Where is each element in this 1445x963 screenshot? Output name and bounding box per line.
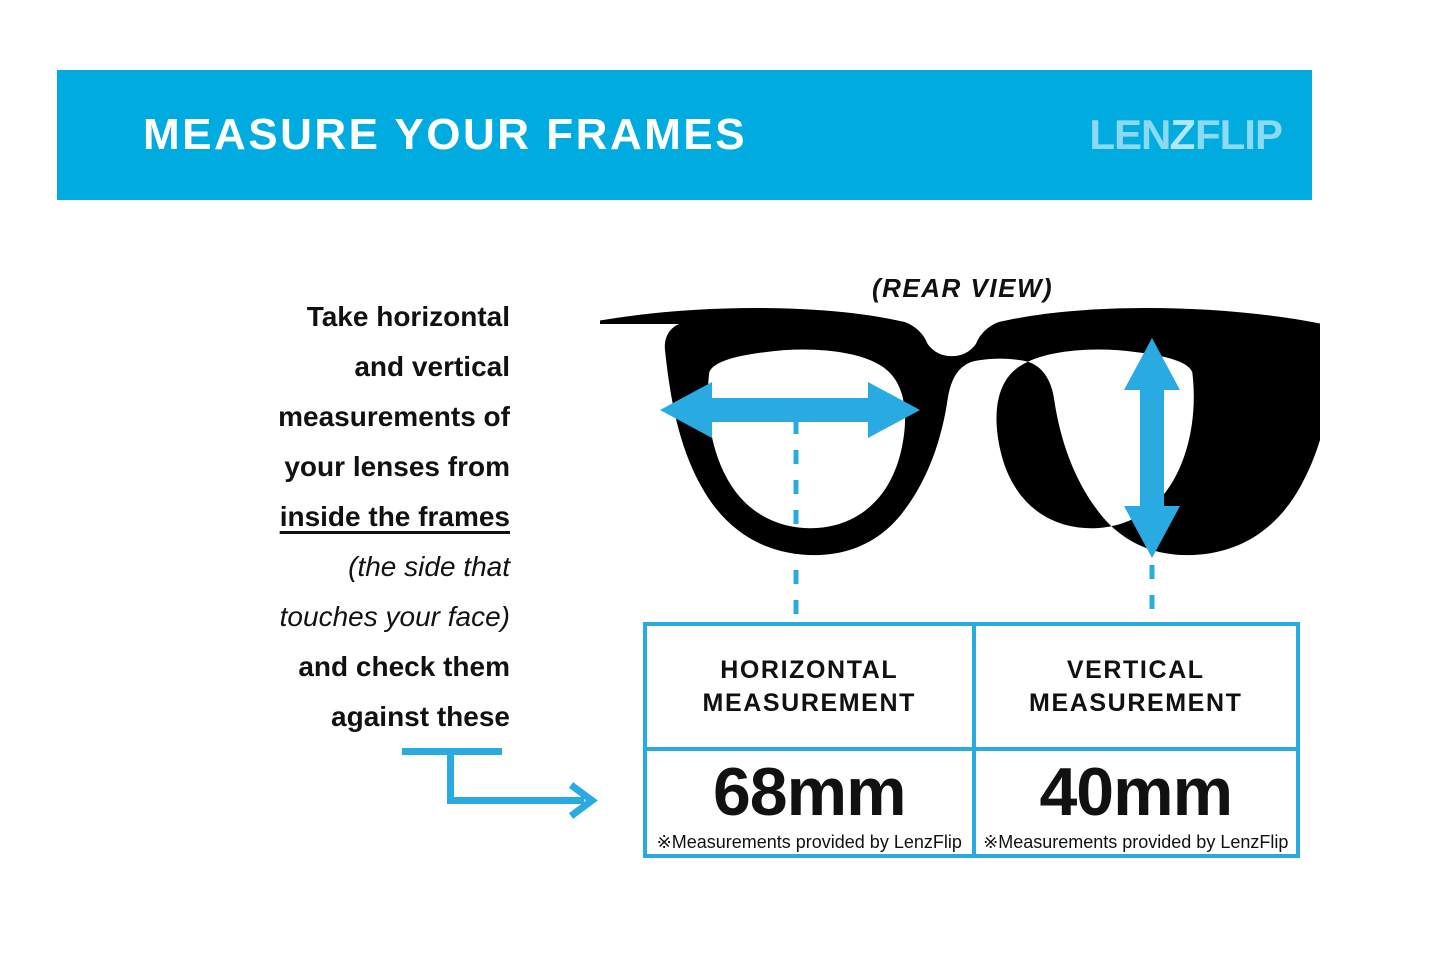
table-cell-horizontal-value: 68mm ※Measurements provided by LenzFlip [647,751,972,854]
instruction-line-7-note: touches your face) [150,592,510,642]
horizontal-header-line1: HORIZONTAL [720,654,898,687]
instruction-line-1: Take horizontal [150,292,510,342]
horizontal-measurement-value: 68mm [713,753,906,831]
instruction-line-8: and check them [150,642,510,692]
infographic-page: MEASURE YOUR FRAMES LEN Z FLIP Take hori… [0,0,1445,963]
instruction-line-3: measurements of [150,392,510,442]
table-cell-vertical-value: 40mm ※Measurements provided by LenzFlip [972,751,1297,854]
instruction-line-4: your lenses from [150,442,510,492]
table-header-row: HORIZONTAL MEASUREMENT VERTICAL MEASUREM… [647,626,1296,747]
connector-arrow-icon [395,735,610,820]
instruction-line-6-note: (the side that [150,542,510,592]
logo-text-prefix: LEN [1089,114,1170,156]
lenzflip-logo: LEN Z FLIP [1089,114,1282,156]
vertical-measurement-value: 40mm [1039,753,1232,831]
header-bar: MEASURE YOUR FRAMES LEN Z FLIP [57,70,1312,200]
table-value-row: 68mm ※Measurements provided by LenzFlip … [647,747,1296,854]
horizontal-header-line2: MEASUREMENT [703,687,916,720]
vertical-header-line2: MEASUREMENT [1029,687,1242,720]
horizontal-measurement-footnote: ※Measurements provided by LenzFlip [657,831,962,853]
horizontal-measurement-arrow-icon [660,382,920,438]
instruction-text-block: Take horizontal and vertical measurement… [150,292,510,742]
table-cell-horizontal-header: HORIZONTAL MEASUREMENT [647,626,972,747]
logo-text-z: Z [1170,114,1196,156]
vertical-header-line1: VERTICAL [1067,654,1205,687]
table-cell-vertical-header: VERTICAL MEASUREMENT [972,626,1297,747]
eyeglasses-frame-illustration [600,300,1320,620]
vertical-measurement-footnote: ※Measurements provided by LenzFlip [983,831,1288,853]
page-title: MEASURE YOUR FRAMES [143,113,747,157]
instruction-line-5-emphasis: inside the frames [150,492,510,542]
measurement-table: HORIZONTAL MEASUREMENT VERTICAL MEASUREM… [643,622,1300,858]
instruction-line-2: and vertical [150,342,510,392]
inside-the-frames-underlined: inside the frames [280,501,510,532]
logo-text-suffix: FLIP [1195,114,1282,156]
